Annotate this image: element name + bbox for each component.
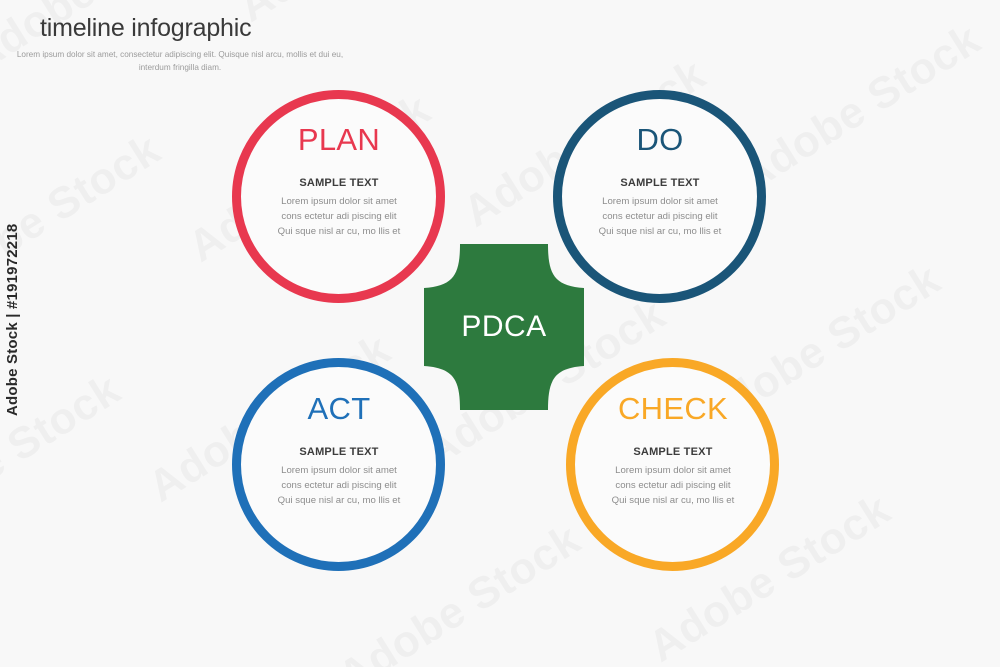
header: timeline infographic Lorem ipsum dolor s… xyxy=(0,14,420,74)
watermark-tile: Adobe Stock xyxy=(730,15,989,203)
do-heading: DO xyxy=(566,124,754,155)
page-title: timeline infographic xyxy=(40,14,420,43)
pdca-center-label: PDCA xyxy=(424,244,584,410)
check-subheading: SAMPLE TEXT xyxy=(579,446,767,458)
act-subheading: SAMPLE TEXT xyxy=(245,446,433,458)
do-node-content: DO SAMPLE TEXT Lorem ipsum dolor sit ame… xyxy=(566,124,754,240)
act-body-line-1: Lorem ipsum dolor sit amet xyxy=(245,464,433,479)
do-body-line-1: Lorem ipsum dolor sit amet xyxy=(566,195,754,210)
do-body-line-3: Qui sque nisl ar cu, mo llis et xyxy=(566,225,754,240)
stock-id-watermark: Adobe Stock | #191972218 xyxy=(4,224,21,416)
check-heading: CHECK xyxy=(579,393,767,424)
infographic-canvas: Adobe Stock Adobe Stock Adobe Stock Adob… xyxy=(0,0,1000,667)
page-subtitle: Lorem ipsum dolor sit amet, consectetur … xyxy=(10,49,350,74)
check-body-line-3: Qui sque nisl ar cu, mo llis et xyxy=(579,494,767,509)
watermark-tile: Adobe Stock xyxy=(520,0,779,2)
plan-subheading: SAMPLE TEXT xyxy=(245,177,433,189)
do-subheading: SAMPLE TEXT xyxy=(566,177,754,189)
act-body-line-2: cons ectetur adi piscing elit xyxy=(245,479,433,494)
plan-node-content: PLAN SAMPLE TEXT Lorem ipsum dolor sit a… xyxy=(245,124,433,240)
act-heading: ACT xyxy=(245,393,433,424)
act-node-content: ACT SAMPLE TEXT Lorem ipsum dolor sit am… xyxy=(245,393,433,509)
check-body-line-1: Lorem ipsum dolor sit amet xyxy=(579,464,767,479)
plan-body-line-2: cons ectetur adi piscing elit xyxy=(245,210,433,225)
check-body-line-2: cons ectetur adi piscing elit xyxy=(579,479,767,494)
check-node-content: CHECK SAMPLE TEXT Lorem ipsum dolor sit … xyxy=(579,393,767,509)
plan-heading: PLAN xyxy=(245,124,433,155)
act-body-line-3: Qui sque nisl ar cu, mo llis et xyxy=(245,494,433,509)
plan-body-line-1: Lorem ipsum dolor sit amet xyxy=(245,195,433,210)
do-body-line-2: cons ectetur adi piscing elit xyxy=(566,210,754,225)
plan-body-line-3: Qui sque nisl ar cu, mo llis et xyxy=(245,225,433,240)
watermark-tile: Adobe Stock xyxy=(0,125,169,313)
